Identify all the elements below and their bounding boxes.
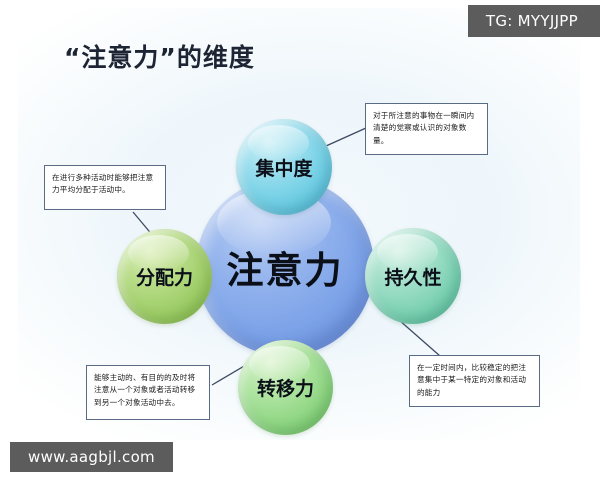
bubble-persistence-label: 持久性: [384, 263, 441, 290]
telegram-watermark: TG: MYYJJPP: [468, 5, 600, 37]
callout-persistence: 在一定时间内，比较稳定的把注意集中于某一特定的对象和活动的能力: [409, 355, 540, 407]
bubble-distribution[interactable]: 分配力: [117, 229, 212, 324]
bubble-center-label: 注意力: [227, 240, 344, 294]
page-title: “注意力”的维度: [64, 38, 255, 74]
bubble-persistence[interactable]: 持久性: [365, 228, 461, 324]
bubble-distribution-label: 分配力: [136, 263, 193, 290]
bubble-shifting-label: 转移力: [257, 374, 314, 401]
callout-concentration: 对于所注意的事物在一瞬间内清楚的觉察或认识的对象数量。: [365, 103, 488, 155]
callout-shifting: 能够主动的、有目的的及时将注意从一个对象或者活动转移到另一个对象活动中去。: [86, 365, 210, 420]
site-watermark: www.aagbjl.com: [10, 442, 173, 472]
bubble-shifting[interactable]: 转移力: [238, 340, 333, 435]
bubble-concentration[interactable]: 集中度: [236, 119, 332, 215]
diagram-canvas: “注意力”的维度 注意力 集中度 分配力 持久性 转移力 对于所注意的事物在一瞬…: [0, 0, 600, 480]
bubble-concentration-label: 集中度: [255, 154, 312, 181]
callout-distribution: 在进行多种活动时能够把注意力平均分配于活动中。: [44, 165, 166, 210]
